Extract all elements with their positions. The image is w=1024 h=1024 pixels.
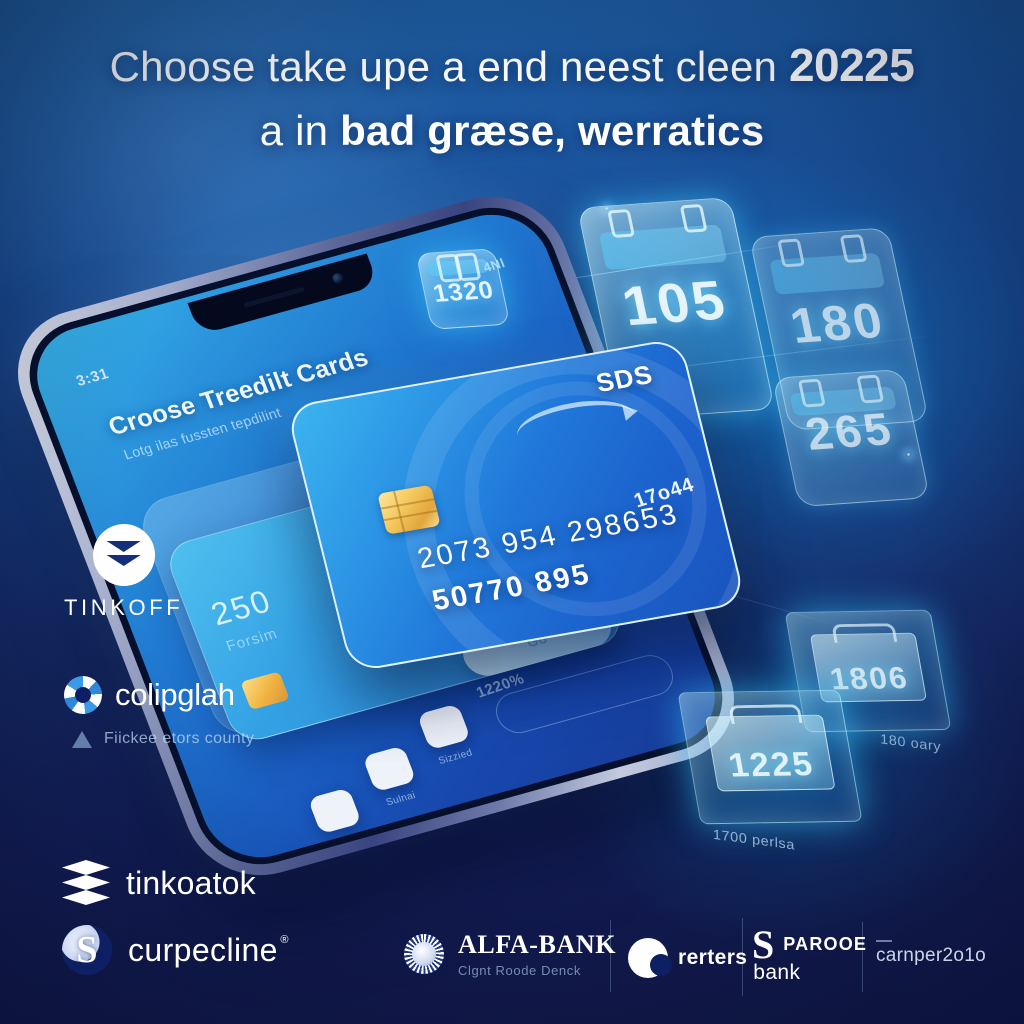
brand-colipglan-label: colipglah: [115, 677, 235, 713]
parooe-text: PAROOE bank: [783, 928, 867, 985]
brand-tinkoff[interactable]: TINKOFF: [64, 524, 183, 621]
promo-banner: Choose take upe a end neest cleen 20225 …: [0, 0, 1024, 1024]
brand-curpecline-label: curpecline®: [128, 932, 278, 969]
hologram-value: 1320: [423, 276, 506, 310]
brand-camper[interactable]: carnper2o1o: [876, 940, 986, 967]
brand-rerters-label: rerters: [678, 946, 747, 970]
hologram-cube-1225: 1225 1700 perlsa: [677, 690, 862, 825]
handle-icon: [831, 623, 898, 643]
hologram-value: 105: [592, 265, 757, 339]
quick-action-tile-label: Suutei: [330, 832, 363, 850]
hologram-plate: 1320: [416, 248, 511, 330]
headline-line-2-text: a in: [260, 107, 340, 154]
brand-curpecline[interactable]: curpecline®: [62, 925, 278, 975]
cube-value: 1225: [688, 745, 855, 786]
brand-alfa-bank-subtitle: Clgnt Roode Denck: [458, 963, 616, 978]
headline-year: 20225: [789, 39, 914, 91]
brand-tinkoatok-label: tinkoatok: [126, 865, 256, 902]
brand-colipglan[interactable]: colipglah: [64, 676, 235, 714]
curpecline-logo-icon: [62, 925, 112, 975]
brand-colipglan-subtitle-label: Fiickee etors county: [104, 730, 254, 748]
hologram-ring-icon: [798, 378, 826, 407]
front-camera-icon: [331, 272, 346, 285]
brand-alfa-bank[interactable]: ALFA-BANK Clgnt Roode Denck: [404, 930, 616, 978]
chip-icon: [240, 671, 289, 710]
quick-action-tile-label: Sizzied: [437, 747, 474, 766]
quick-action-tile[interactable]: Suutei: [308, 787, 362, 834]
triangle-icon: [72, 731, 92, 748]
headline-line-1: Choose take upe a end neest cleen 20225: [0, 38, 1024, 92]
tinkoatok-logo-icon: [62, 860, 110, 906]
brand-tinkoatok[interactable]: tinkoatok: [62, 860, 256, 906]
hologram-calendar-265: 265: [772, 369, 930, 507]
brand-tinkoff-label: TINKOFF: [64, 595, 183, 621]
hologram-ring-icon: [840, 234, 868, 263]
earpiece-speaker: [243, 287, 305, 308]
dash-icon: [876, 940, 892, 942]
secondary-card-amount: 250: [206, 583, 277, 633]
headline-line-2: a in bad græse, werratics: [0, 106, 1024, 156]
status-bar-time: 3:31: [74, 365, 111, 390]
alfa-bank-text: ALFA-BANK Clgnt Roode Denck: [458, 930, 616, 978]
cube-caption: 1700 perlsa: [713, 826, 795, 853]
hologram-ring-icon: [680, 204, 708, 233]
quick-action-tile-label: Sulnai: [385, 790, 418, 808]
parooe-logo-icon: S: [752, 928, 774, 962]
hologram-mini-card: 1320: [416, 248, 511, 330]
brand-curpecline-text: curpecline: [128, 932, 278, 968]
colipglan-logo-icon: [64, 676, 102, 714]
brand-parooe-label: PAROOE: [783, 934, 867, 955]
brand-alfa-bank-label: ALFA-BANK: [458, 930, 616, 960]
cube-box: 1225: [677, 690, 862, 825]
cube-caption: 180 oary: [880, 731, 941, 755]
hologram-value: 265: [779, 400, 919, 462]
hologram-ring-icon: [777, 238, 805, 267]
hologram-plate: 265: [772, 369, 930, 507]
hologram-ring-icon: [607, 209, 635, 238]
headline-line-2-bold: bad græse, werratics: [340, 107, 764, 154]
secondary-card-label: Forsim: [224, 625, 280, 655]
quick-action-tile[interactable]: Sizzied: [417, 703, 471, 750]
phone-notch: [188, 253, 379, 334]
brand-colipglan-subtitle: Fiickee etors county: [72, 730, 254, 748]
brand-parooe-bank[interactable]: S PAROOE bank: [752, 928, 867, 985]
tinkoff-logo-icon: [93, 524, 155, 586]
brand-camper-label: carnper2o1o: [876, 945, 986, 967]
brand-parooe-sublabel: bank: [753, 961, 867, 985]
rerters-logo-icon: [628, 938, 668, 978]
quick-action-tile[interactable]: Sulnai: [362, 745, 416, 792]
brand-rerters[interactable]: rerters: [628, 938, 747, 978]
handle-icon: [729, 704, 802, 724]
hologram-ring-icon: [856, 374, 884, 403]
hologram-value: 180: [763, 290, 912, 356]
registered-mark: ®: [280, 934, 289, 946]
headline-line-1-text: Choose take upe a end neest cleen: [110, 43, 789, 90]
headline: Choose take upe a end neest cleen 20225 …: [0, 38, 1024, 156]
alfa-bank-logo-icon: [404, 934, 444, 974]
